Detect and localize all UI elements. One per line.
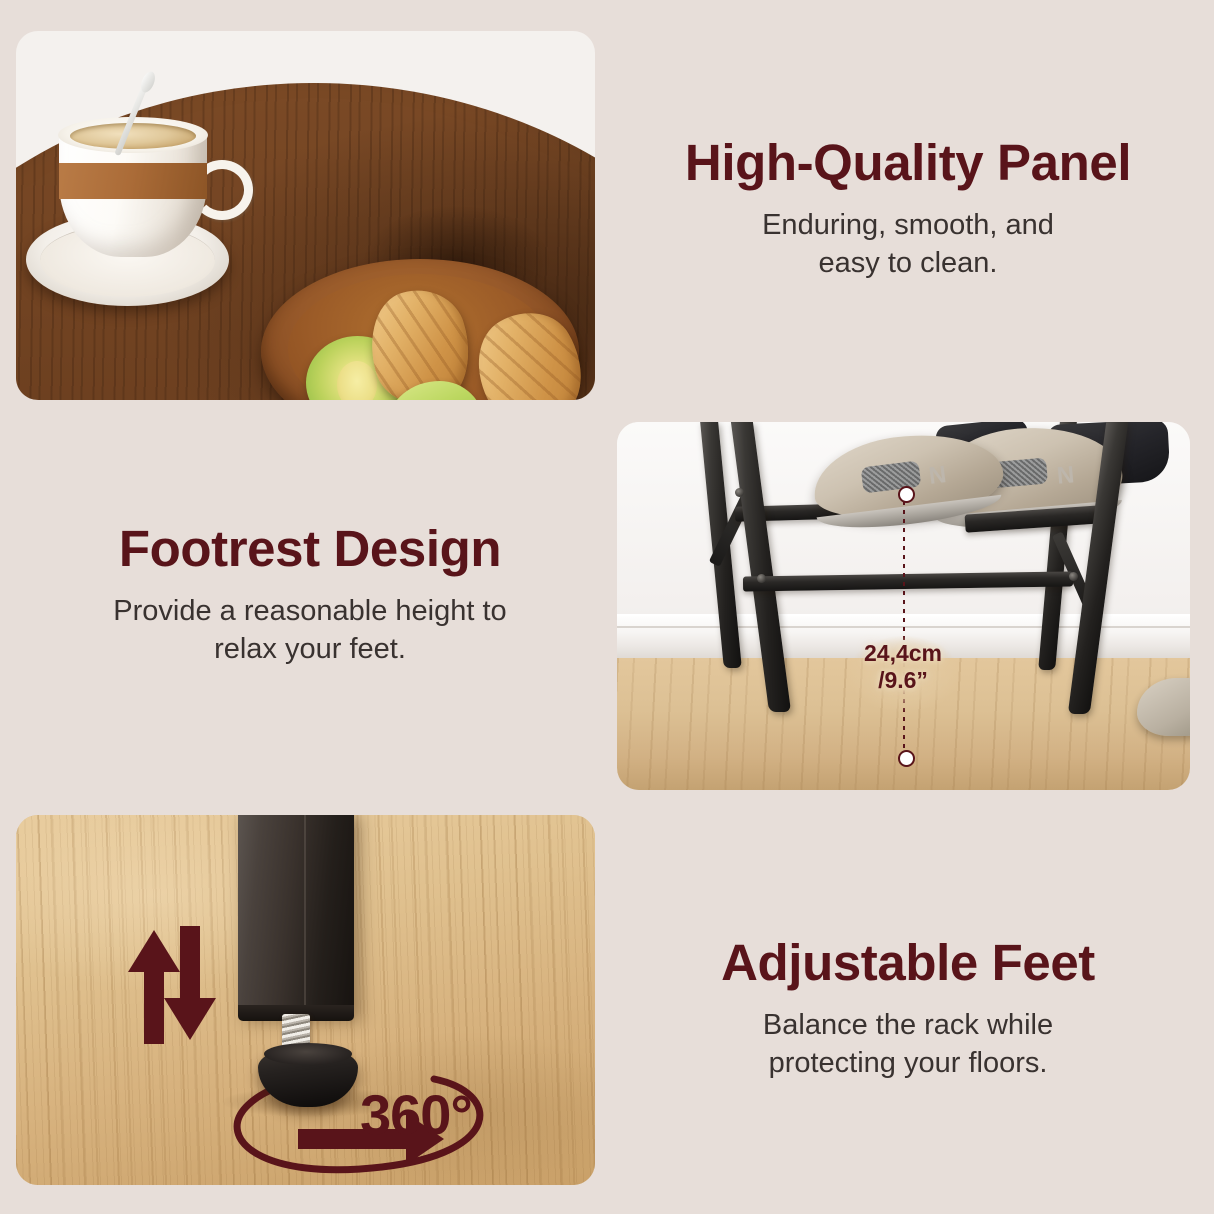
measure-endpoint-top-icon <box>898 486 915 503</box>
footrest-height-metric: 24,4cm <box>813 640 993 667</box>
bolt-lower-left <box>757 574 766 583</box>
rubber-foot-pad-top <box>264 1043 352 1065</box>
infographic-canvas: High-Quality Panel Enduring, smooth, and… <box>0 0 1214 1214</box>
coffee-cup-brown-band <box>59 163 207 199</box>
subline-line-2: relax your feet. <box>214 633 406 665</box>
photo-adjustable-feet <box>16 815 595 1185</box>
subline-line-1: Balance the rack while <box>763 1009 1053 1041</box>
subline-line-1: Provide a reasonable height to <box>113 595 506 627</box>
feature-text-footrest-design: Footrest Design Provide a reasonable hei… <box>10 522 610 668</box>
bolt-lower-right <box>1069 572 1078 581</box>
subline-line-2: protecting your floors. <box>769 1047 1048 1079</box>
subline-line-2: easy to clean. <box>819 247 998 279</box>
up-down-arrows-icon <box>124 918 220 1052</box>
feature-text-high-quality-panel: High-Quality Panel Enduring, smooth, and… <box>608 136 1208 282</box>
headline-adjustable-feet: Adjustable Feet <box>618 936 1198 990</box>
bolt-upper-left <box>735 488 744 497</box>
rotation-degree-label: 360° <box>360 1082 472 1147</box>
footrest-height-label: 24,4cm /9.6” <box>813 640 993 694</box>
measure-endpoint-bottom-icon <box>898 750 915 767</box>
coffee-liquid <box>70 123 196 149</box>
sneaker-logo-back: N <box>1056 461 1076 490</box>
headline-footrest-design: Footrest Design <box>10 522 610 576</box>
spoon-bowl <box>138 70 157 95</box>
photo-footrest-design: N N 24,4cm /9.6” <box>617 422 1190 790</box>
photo-high-quality-panel <box>16 31 595 400</box>
subline-line-1: Enduring, smooth, and <box>762 209 1054 241</box>
furniture-leg <box>238 815 354 1013</box>
subline-footrest-design: Provide a reasonable height to relax you… <box>10 592 610 669</box>
feature-text-adjustable-feet: Adjustable Feet Balance the rack while p… <box>618 936 1198 1082</box>
footrest-height-imperial: /9.6” <box>813 667 993 694</box>
measure-line-icon <box>903 492 905 757</box>
subline-high-quality-panel: Enduring, smooth, and easy to clean. <box>608 206 1208 283</box>
headline-high-quality-panel: High-Quality Panel <box>608 136 1208 190</box>
subline-adjustable-feet: Balance the rack while protecting your f… <box>618 1006 1198 1083</box>
sneaker-logo-front: N <box>927 461 948 491</box>
